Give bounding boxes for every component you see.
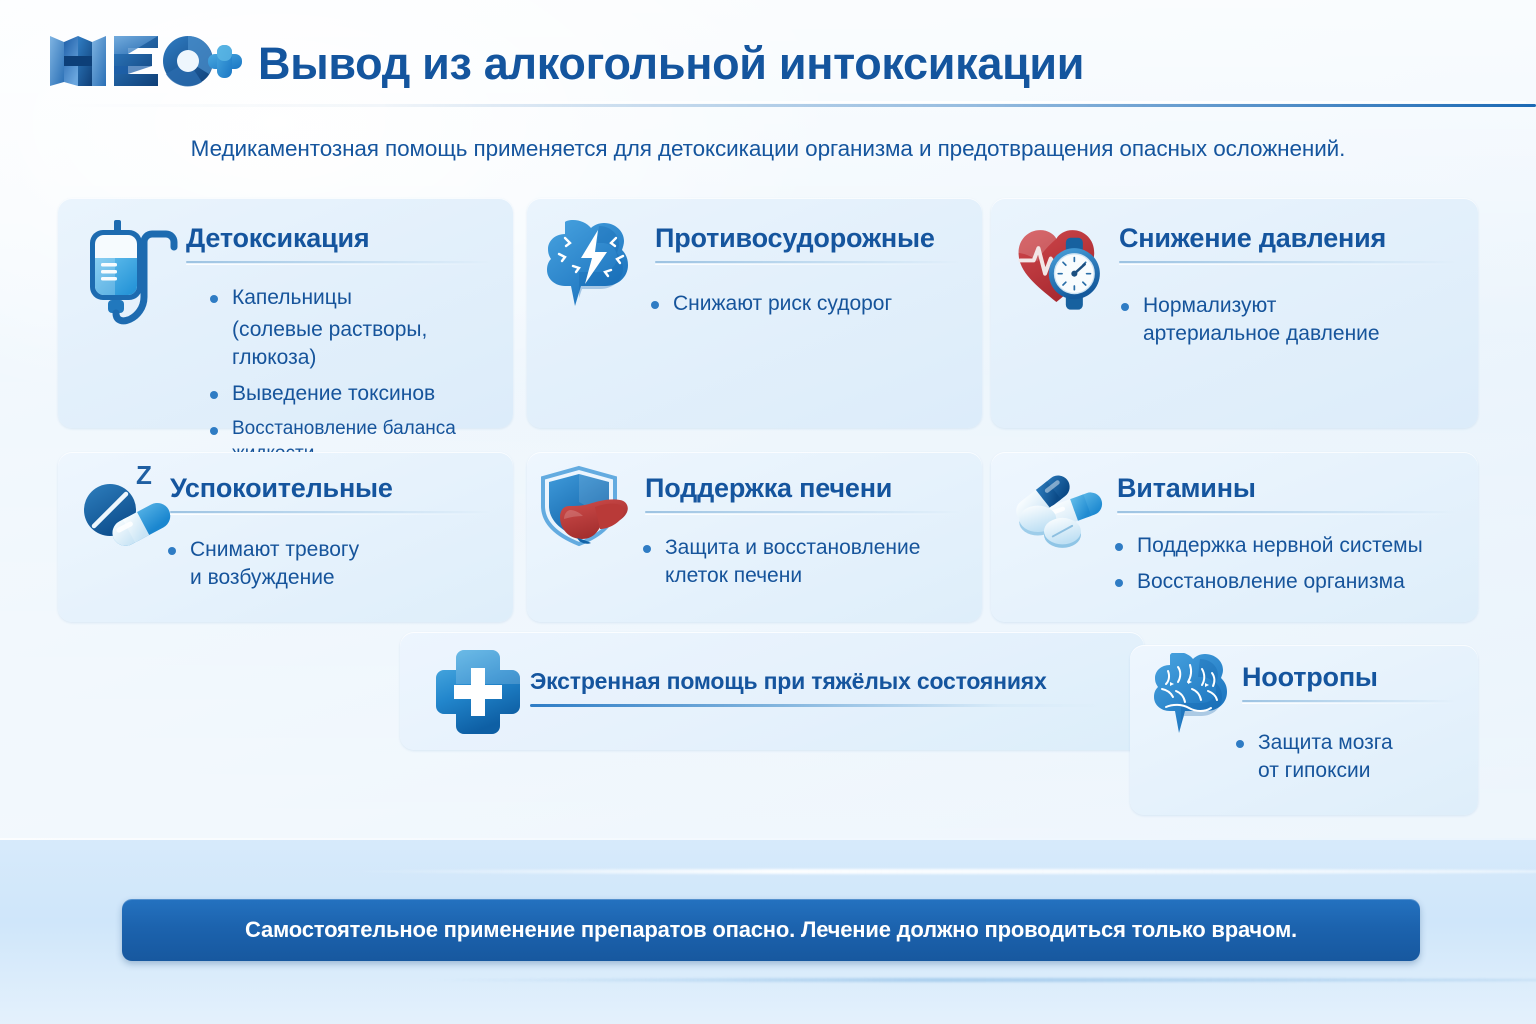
card-sedatives-divider-highlight — [170, 514, 491, 515]
card-vitamins-divider-highlight — [1117, 514, 1456, 515]
card-blood-pressure-divider-highlight — [1119, 264, 1456, 265]
list-item: Капельницы — [208, 284, 499, 312]
card-vitamins-title: Витамины — [1117, 474, 1456, 504]
iv-drip-icon — [80, 218, 184, 322]
card-blood-pressure-bullets: Нормализуют артериальное давление — [1119, 292, 1464, 356]
header-divider — [56, 104, 1536, 107]
card-anticonvulsants-divider-highlight — [655, 264, 960, 265]
list-item: Снижают риск судорог — [649, 290, 968, 318]
card-anticonvulsants-divider — [655, 261, 960, 263]
card-anticonvulsants[interactable]: Противосудорожные Снижают риск судорог — [527, 198, 982, 428]
warning-banner: Самостоятельное применение препаратов оп… — [122, 899, 1420, 961]
card-liver-support-divider-highlight — [645, 514, 960, 515]
emergency-help-text: Экстренная помощь при тяжёлых состояниях — [530, 668, 1047, 695]
brain-icon — [1142, 653, 1246, 757]
card-nootropics-bullets: Защита мозга от гипоксии — [1234, 729, 1466, 793]
card-detox-title: Детоксикация — [186, 224, 491, 254]
sleeping-pills-icon: Z — [72, 462, 176, 566]
card-nootropics-title: Ноотропы — [1242, 663, 1456, 693]
card-blood-pressure-divider — [1119, 261, 1456, 263]
card-sedatives-title: Успокоительные — [170, 474, 491, 504]
card-detox-divider — [186, 261, 491, 263]
card-detox[interactable]: Детоксикация Капельницы (солевые раствор… — [58, 198, 513, 428]
brain-lightning-icon — [541, 214, 645, 318]
card-liver-support-divider — [645, 511, 960, 513]
card-anticonvulsants-title: Противосудорожные — [655, 224, 960, 254]
card-blood-pressure-title: Снижение давления — [1119, 224, 1456, 254]
card-nootropics[interactable]: Ноотропы Защита мозга от гипоксии — [1130, 645, 1478, 815]
card-liver-support-bullets: Защита и восстановление клеток печени — [641, 534, 968, 598]
card-nootropics-head: Ноотропы — [1242, 663, 1456, 704]
infographic-poster: Вывод из алкогольной интоксикации Медика… — [0, 0, 1536, 1024]
heo-plus-logo-icon — [48, 32, 244, 90]
card-vitamins-bullets: Поддержка нервной системы Восстановление… — [1113, 532, 1464, 604]
list-item: (солевые растворы, глюкоза) — [208, 316, 499, 372]
list-item: Нормализуют артериальное давление — [1119, 292, 1464, 348]
list-item: Защита мозга от гипоксии — [1234, 729, 1466, 785]
card-blood-pressure-head: Снижение давления — [1119, 224, 1456, 265]
brand-logo — [48, 32, 244, 90]
card-nootropics-divider-highlight — [1242, 703, 1456, 704]
medical-cross-icon — [432, 646, 524, 738]
emergency-divider — [530, 704, 1102, 707]
list-item: Снимают тревогу и возбуждение — [166, 536, 499, 592]
header-rule-highlight — [90, 101, 1526, 103]
card-vitamins-divider — [1117, 511, 1456, 513]
list-item: Восстановление организма — [1113, 568, 1464, 596]
card-detox-head: Детоксикация — [186, 224, 491, 265]
card-liver-support-head: Поддержка печени — [645, 474, 960, 515]
card-vitamins-head: Витамины — [1117, 474, 1456, 515]
heart-pressure-gauge-icon — [1011, 216, 1115, 320]
card-liver-support[interactable]: Поддержка печени Защита и восстановление… — [527, 452, 982, 622]
card-blood-pressure[interactable]: Снижение давления Нормализуют артериальн… — [991, 198, 1478, 428]
card-anticonvulsants-bullets: Снижают риск судорог — [649, 290, 968, 326]
page-title: Вывод из алкогольной интоксикации — [258, 38, 1084, 90]
list-item: Защита и восстановление клеток печени — [641, 534, 968, 590]
emergency-help-card[interactable]: Экстренная помощь при тяжёлых состояниях — [400, 632, 1144, 750]
warning-banner-text: Самостоятельное применение препаратов оп… — [245, 917, 1297, 943]
card-sedatives[interactable]: Z Успокоительные Снимают тревогу и возбу… — [58, 452, 513, 622]
card-sedatives-bullets: Снимают тревогу и возбуждение — [166, 536, 499, 600]
shield-liver-icon — [539, 462, 643, 566]
page-subtitle: Медикаментозная помощь применяется для д… — [0, 136, 1536, 162]
card-vitamins[interactable]: Витамины Поддержка нервной системы Восст… — [991, 452, 1478, 622]
card-nootropics-divider — [1242, 700, 1456, 702]
list-item: Поддержка нервной системы — [1113, 532, 1464, 560]
card-liver-support-title: Поддержка печени — [645, 474, 960, 504]
page-header: Вывод из алкогольной интоксикации — [0, 0, 1536, 110]
card-detox-divider-highlight — [186, 264, 491, 265]
pills-capsules-icon — [999, 464, 1103, 568]
card-sedatives-head: Успокоительные — [170, 474, 491, 515]
list-item: Выведение токсинов — [208, 380, 499, 408]
card-detox-bullets: Капельницы (солевые растворы, глюкоза) В… — [208, 284, 499, 474]
card-sedatives-divider — [170, 511, 491, 513]
svg-text:Z: Z — [136, 462, 152, 490]
card-anticonvulsants-head: Противосудорожные — [655, 224, 960, 265]
